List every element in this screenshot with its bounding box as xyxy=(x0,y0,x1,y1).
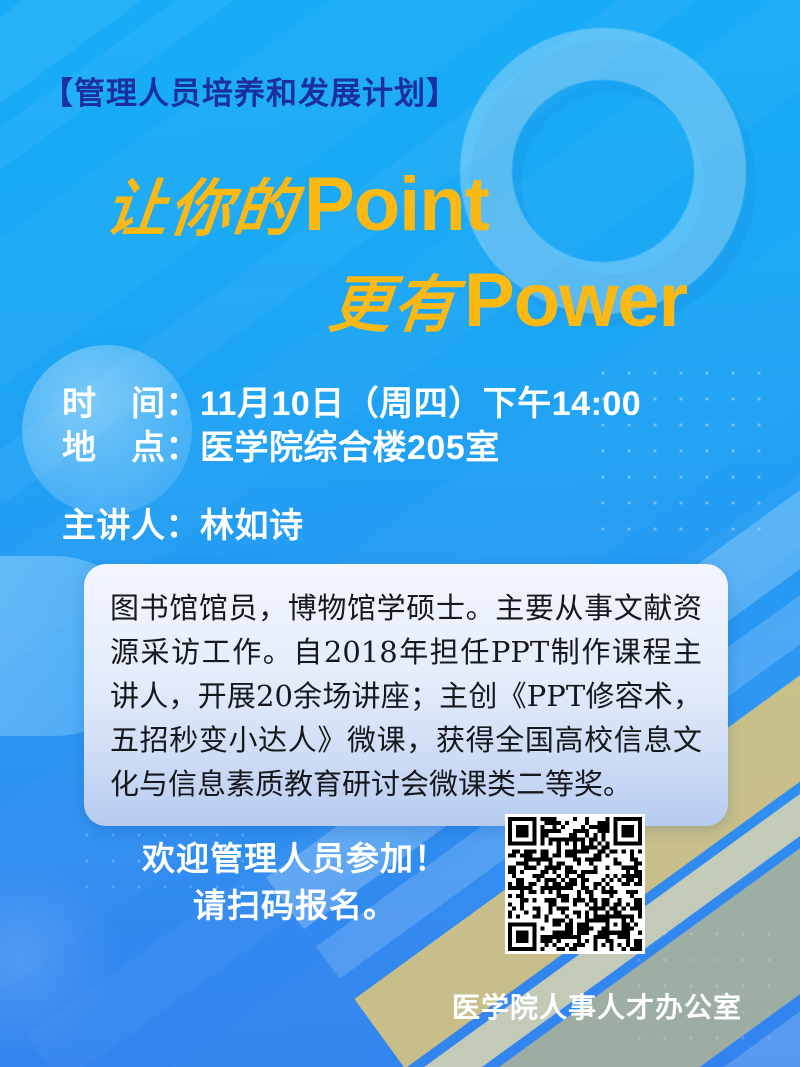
speaker-bio-text: 图书馆馆员，博物馆学硕士。主要从事文献资源采访工作。自2018年担任PPT制作课… xyxy=(110,586,702,806)
program-kicker: 【管理人员培养和发展计划】 xyxy=(42,68,458,113)
event-location: 地 点：医学院综合楼205室 xyxy=(62,426,641,470)
qr-code-icon xyxy=(508,817,642,951)
poster-title: 让你的 Point 更有 Power xyxy=(0,158,800,344)
qr-code[interactable] xyxy=(505,814,645,954)
event-details: 时 间：11月10日（周四）下午14:00 地 点：医学院综合楼205室 xyxy=(62,382,641,470)
title-line-2-en: Power xyxy=(464,257,687,344)
title-line-1-en: Point xyxy=(304,161,489,248)
poster-canvas: 【管理人员培养和发展计划】 让你的 Point 更有 Power 时 间：11月… xyxy=(0,0,800,1067)
call-to-action: 欢迎管理人员参加！ 请扫码报名。 xyxy=(110,836,480,930)
title-line-1-cn: 让你的 xyxy=(101,158,302,248)
poster-content: 【管理人员培养和发展计划】 让你的 Point 更有 Power 时 间：11月… xyxy=(0,0,800,1067)
cta-line-1: 欢迎管理人员参加！ xyxy=(110,836,480,883)
title-line-2-cn: 更有 xyxy=(325,254,462,344)
event-time: 时 间：11月10日（周四）下午14:00 xyxy=(62,382,641,426)
title-line-1: 让你的 Point xyxy=(0,158,800,248)
speaker-bio-box: 图书馆馆员，博物馆学硕士。主要从事文献资源采访工作。自2018年担任PPT制作课… xyxy=(84,564,728,826)
cta-line-2: 请扫码报名。 xyxy=(110,883,480,930)
speaker-line: 主讲人：林如诗 xyxy=(62,498,304,547)
organizer-footer: 医学院人事人才办公室 xyxy=(452,986,742,1026)
title-line-2: 更有 Power xyxy=(0,254,800,344)
